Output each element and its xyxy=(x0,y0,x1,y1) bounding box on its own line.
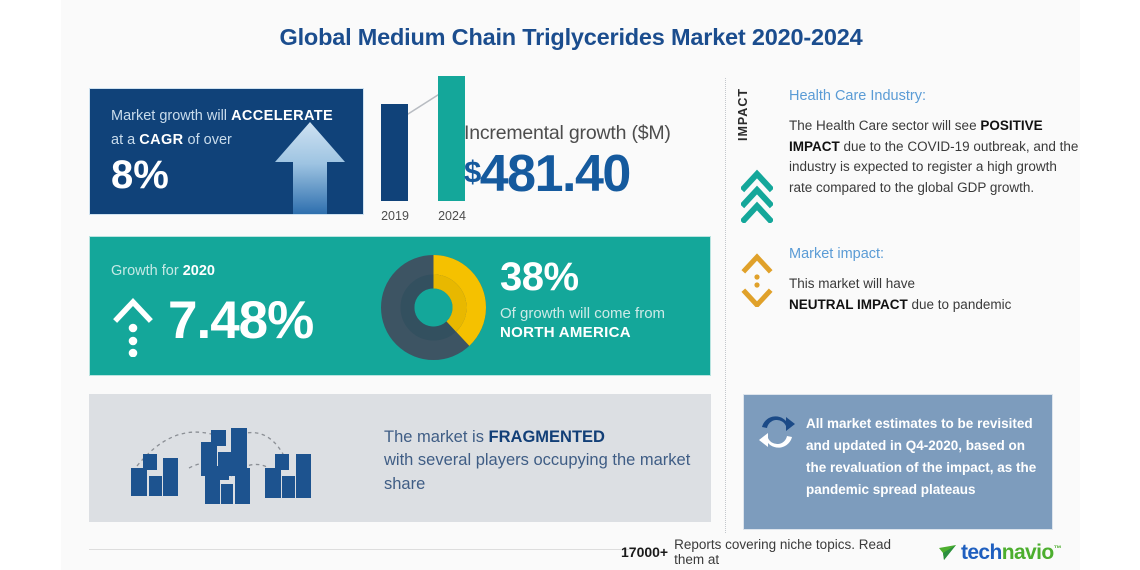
logo-tech: tech xyxy=(961,541,1002,564)
revision-note-panel: All market estimates to be revisited and… xyxy=(743,394,1053,530)
healthcare-body: The Health Care sector will see POSITIVE… xyxy=(789,116,1079,198)
technavio-logo[interactable]: technavio™ xyxy=(938,542,1061,563)
healthcare-heading: Health Care Industry: xyxy=(789,88,1079,104)
arrow-up-icon xyxy=(271,118,349,214)
share-percentage: 38% xyxy=(500,257,710,297)
fragmentation-text: The market is FRAGMENTED with several pl… xyxy=(384,426,694,496)
market-impact-body: This market will have NEUTRAL IMPACT due… xyxy=(789,274,1079,315)
page-title: Global Medium Chain Triglycerides Market… xyxy=(1,24,1140,51)
footer-divider xyxy=(89,549,629,550)
fragmentation-panel: The market is FRAGMENTED with several pl… xyxy=(89,394,711,522)
market-impact-body-a: This market will have xyxy=(789,276,915,291)
growth-percentage-value: 7.48% xyxy=(168,294,313,347)
currency-symbol: $ xyxy=(464,154,480,189)
cagr-line-2: at a CAGR of over xyxy=(111,132,232,148)
regional-share-block: 38% Of growth will come from NORTH AMERI… xyxy=(500,257,710,341)
bar-2024 xyxy=(438,76,465,201)
incremental-growth-number: 481.40 xyxy=(480,145,630,203)
market-impact-body-c: due to pandemic xyxy=(912,297,1012,312)
market-impact-heading: Market impact: xyxy=(789,246,1079,262)
logo-navio: navio xyxy=(1002,541,1054,564)
incremental-growth-value: $481.40 xyxy=(464,147,704,202)
bar-label-2019: 2019 xyxy=(372,209,418,223)
bar-chart: 2019 2024 xyxy=(376,78,476,223)
healthcare-body-a: The Health Care sector will see xyxy=(789,118,977,133)
revision-note-text: All market estimates to be revisited and… xyxy=(806,413,1041,500)
technavio-arrow-icon xyxy=(938,542,958,562)
growth-label-text: Growth for xyxy=(111,263,179,279)
logo-text: technavio™ xyxy=(961,542,1061,563)
refresh-icon xyxy=(758,415,796,449)
bar-2019 xyxy=(381,104,408,201)
up-down-chevron-icon xyxy=(741,252,773,307)
infographic-canvas: Global Medium Chain Triglycerides Market… xyxy=(0,0,1140,570)
buildings-network-icon xyxy=(119,406,349,511)
report-count: 17000+ xyxy=(621,544,668,560)
cagr-word: CAGR xyxy=(139,132,183,148)
growth-year-label: Growth for 2020 xyxy=(111,263,215,279)
cagr-panel: Market growth will ACCELERATE at a CAGR … xyxy=(89,88,364,215)
neutral-impact-keyword: NEUTRAL IMPACT xyxy=(789,297,908,312)
cagr-line1-text: Market growth will xyxy=(111,108,227,124)
cagr-value: 8% xyxy=(111,155,169,195)
market-impact-block: Market impact: This market will have NEU… xyxy=(789,246,1079,315)
cagr-line2-prefix: at a xyxy=(111,132,135,148)
chevron-up-dots-icon xyxy=(112,295,154,357)
incremental-growth-block: Incremental growth ($M) $481.40 xyxy=(464,122,704,202)
incremental-growth-caption: Incremental growth ($M) xyxy=(464,122,704,145)
column-divider xyxy=(725,78,726,533)
growth-label-year: 2020 xyxy=(183,263,215,279)
logo-trademark: ™ xyxy=(1054,544,1061,553)
fragmented-keyword: FRAGMENTED xyxy=(489,428,605,446)
double-chevron-up-icon xyxy=(741,168,773,223)
footer-text: Reports covering niche topics. Read them… xyxy=(674,537,922,567)
healthcare-impact-block: Health Care Industry: The Health Care se… xyxy=(789,88,1079,198)
donut-chart xyxy=(380,254,487,361)
fragmentation-text-body: with several players occupying the marke… xyxy=(384,451,690,492)
cagr-line2-suffix: of over xyxy=(188,132,232,148)
right-margin xyxy=(1080,0,1140,570)
growth-share-panel: Growth for 2020 7.48% 38% Of growth will… xyxy=(89,236,711,376)
share-region: NORTH AMERICA xyxy=(500,324,710,341)
footer: 17000+ Reports covering niche topics. Re… xyxy=(621,540,1061,564)
fragmentation-text-prefix: The market is xyxy=(384,428,484,446)
left-margin xyxy=(1,0,61,570)
bar-label-2024: 2024 xyxy=(429,209,475,223)
impact-section-label: IMPACT xyxy=(736,88,750,141)
share-subtitle: Of growth will come from xyxy=(500,305,710,322)
